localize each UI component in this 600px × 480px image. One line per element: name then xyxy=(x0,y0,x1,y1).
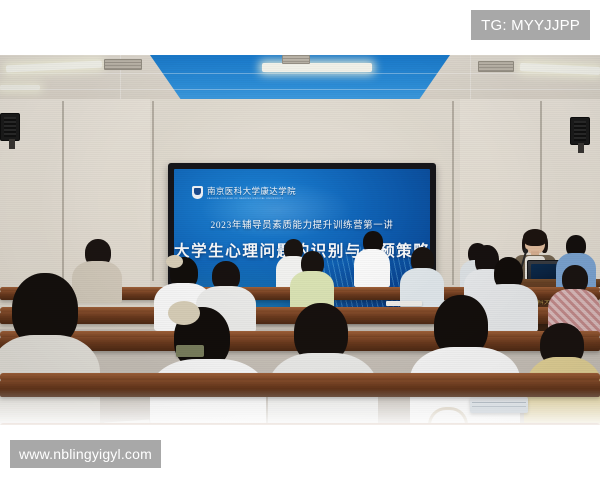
wall-seam xyxy=(152,101,154,281)
slide-institution-en: KANGDA COLLEGE OF NANJING MEDICAL UNIVER… xyxy=(207,197,296,200)
website-watermark: www.nblingyigyl.com xyxy=(10,440,161,468)
attendee xyxy=(354,231,390,287)
hair-scrunchie xyxy=(166,255,183,268)
hair-scrunchie xyxy=(168,301,200,325)
screenshot-root: 南京医科大学康达学院 KANGDA COLLEGE OF NANJING MED… xyxy=(0,0,600,480)
wall-seam xyxy=(62,101,64,287)
books-stack xyxy=(470,397,528,413)
ceiling-tile-line xyxy=(0,73,600,74)
air-vent xyxy=(282,55,310,64)
speaker-mount xyxy=(578,143,584,153)
jacket-on-seat xyxy=(176,345,204,357)
slide-institution-cn: 南京医科大学康达学院 xyxy=(207,185,296,197)
tg-watermark: TG: MYYJJPP xyxy=(471,10,590,40)
slide-logo: 南京医科大学康达学院 KANGDA COLLEGE OF NANJING MED… xyxy=(192,185,296,200)
attendee xyxy=(150,307,266,425)
ceiling-lamp xyxy=(262,63,372,72)
speaker-right-icon xyxy=(570,117,590,145)
shield-icon xyxy=(192,186,203,199)
wall-seam xyxy=(540,101,542,251)
lecture-hall-photo: 南京医科大学康达学院 KANGDA COLLEGE OF NANJING MED… xyxy=(0,55,600,425)
air-vent xyxy=(104,59,142,70)
attendee xyxy=(268,303,378,425)
air-vent xyxy=(478,61,514,72)
attendee xyxy=(290,251,334,307)
ceiling-lamp xyxy=(0,85,40,90)
speaker-left-icon xyxy=(0,113,20,141)
ceiling-tile-line xyxy=(0,89,600,90)
wall-seam xyxy=(452,101,454,285)
speaker-mount xyxy=(9,139,15,149)
presenter-hair xyxy=(523,229,547,246)
slide-subtitle: 2023年辅导员素质能力提升训练营第一讲 xyxy=(174,217,430,231)
attendee xyxy=(0,273,100,425)
